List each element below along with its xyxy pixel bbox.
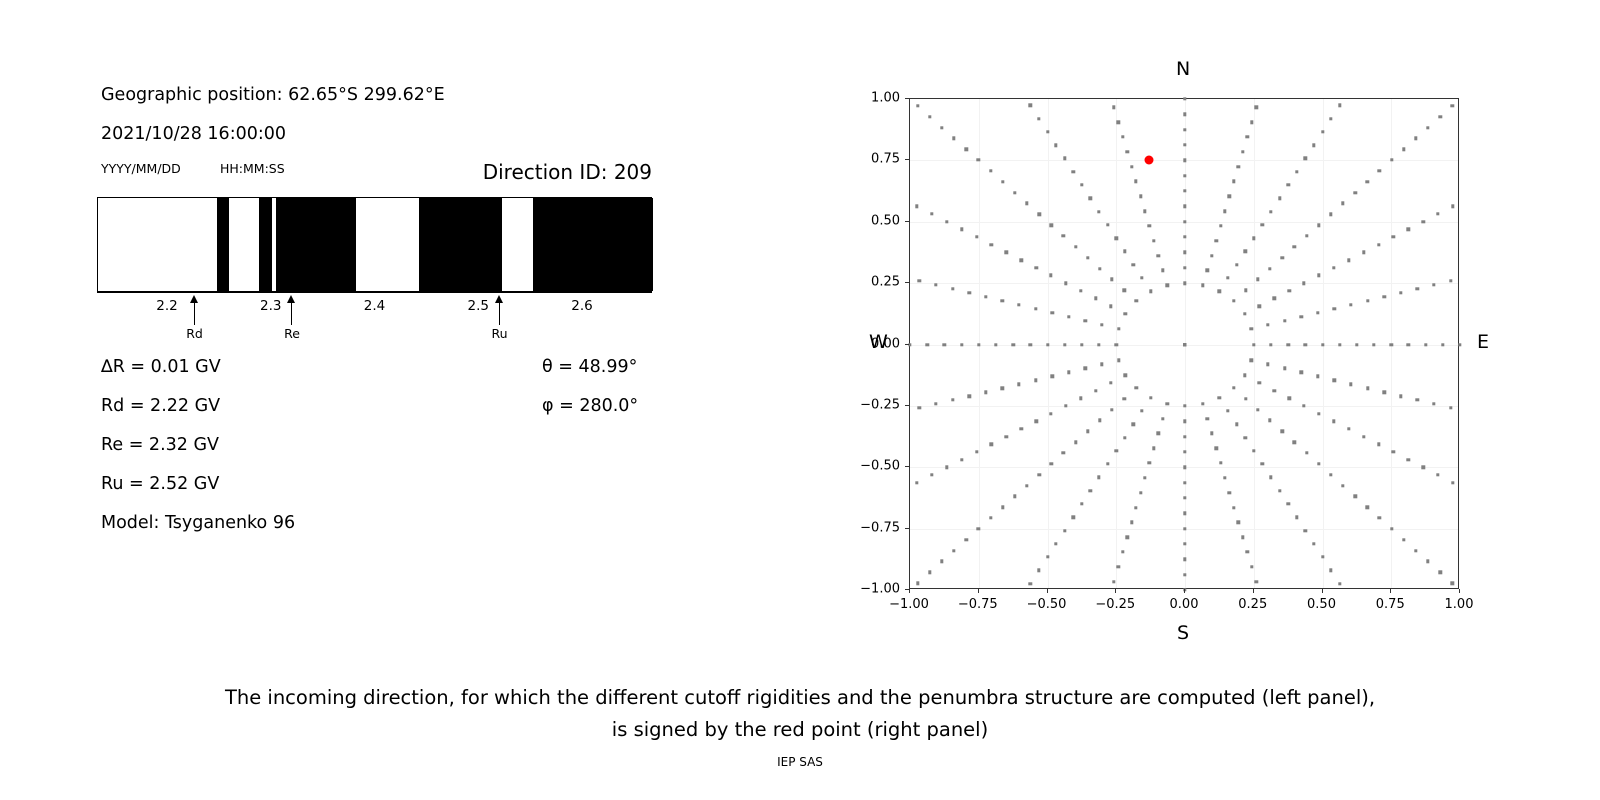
scatter-point: [1219, 461, 1222, 464]
scatter-point: [1295, 170, 1298, 173]
x-axis-tick-mark: [978, 589, 979, 593]
x-axis-tick-label: −0.75: [958, 597, 998, 612]
scatter-point: [1084, 319, 1087, 322]
scatter-point: [1218, 290, 1221, 293]
scatter-point: [1062, 451, 1065, 454]
scatter-point: [1201, 284, 1204, 287]
scatter-point: [1029, 104, 1032, 107]
scatter-point: [1063, 343, 1066, 346]
y-axis-tick-label: −0.50: [860, 459, 900, 474]
scatter-point: [984, 295, 987, 298]
y-axis-tick-label: −1.00: [860, 582, 900, 597]
x-axis-tick-mark: [1253, 589, 1254, 593]
scatter-point: [1183, 542, 1186, 545]
scatter-point: [1399, 394, 1402, 397]
scatter-point: [967, 291, 970, 294]
penumbra-band-forbidden: [217, 198, 229, 291]
scatter-point: [1089, 489, 1092, 492]
scatter-point: [1124, 312, 1127, 315]
scatter-point: [1183, 435, 1186, 438]
scatter-point: [1407, 228, 1410, 231]
scatter-point: [1037, 473, 1040, 476]
x-axis-tick-label: −0.50: [1027, 597, 1067, 612]
scatter-point: [1115, 343, 1118, 346]
scatter-point: [1424, 343, 1427, 346]
scatter-point: [1355, 343, 1358, 346]
scatter-point: [940, 560, 943, 563]
scatter-point: [1067, 315, 1070, 318]
scatter-point: [1094, 297, 1097, 300]
scatter-point: [928, 571, 931, 574]
scatter-point: [1241, 150, 1244, 153]
scatter-point: [1287, 289, 1290, 292]
compass-label-west: W: [869, 331, 888, 353]
scatter-point: [1123, 250, 1126, 253]
scatter-point: [1084, 367, 1087, 370]
scatter-point: [1232, 386, 1235, 389]
scatter-point: [1062, 234, 1065, 237]
scatter-point: [1037, 117, 1040, 120]
scatter-point: [1305, 234, 1308, 237]
scatter-point: [1001, 386, 1004, 389]
scatter-point: [1109, 304, 1112, 307]
scatter-point: [945, 466, 948, 469]
scatter-point: [1079, 289, 1082, 292]
date-format-label: YYYY/MM/DD: [101, 161, 181, 176]
scatter-point: [1123, 289, 1126, 292]
scatter-point: [1266, 323, 1269, 326]
re-value: Re = 2.32 GV: [101, 435, 219, 455]
scatter-point: [965, 148, 968, 151]
scatter-point: [1034, 307, 1037, 310]
scatter-point: [1183, 496, 1186, 499]
scatter-point: [1123, 436, 1126, 439]
scatter-point: [1243, 373, 1246, 376]
scatter-point: [1329, 117, 1332, 120]
scatter-point: [1183, 128, 1186, 131]
scatter-point: [951, 398, 954, 401]
scatter-point: [1349, 303, 1352, 306]
scatter-point: [1243, 312, 1246, 315]
scatter-point: [1183, 113, 1186, 116]
x-axis-tick-label: −0.25: [1095, 597, 1135, 612]
scatter-point: [915, 481, 918, 484]
rigidity-marker-arrow-re: [286, 295, 298, 325]
scatter-point: [1049, 274, 1052, 277]
scatter-point: [1161, 417, 1164, 420]
scatter-point: [989, 169, 992, 172]
scatter-point: [1316, 375, 1319, 378]
scatter-point: [1237, 165, 1240, 168]
phi-value: φ = 280.0°: [542, 396, 638, 416]
scatter-point: [1134, 506, 1137, 509]
scatter-point: [1333, 379, 1336, 382]
scatter-point: [1283, 367, 1286, 370]
scatter-point: [1439, 115, 1442, 118]
scatter-point: [1250, 120, 1253, 123]
scatter-point: [1286, 343, 1289, 346]
scatter-point: [1080, 502, 1083, 505]
scatter-point: [1286, 183, 1289, 186]
scatter-point: [1050, 375, 1053, 378]
scatter-point: [1214, 447, 1217, 450]
scatter-point: [1086, 256, 1089, 259]
scatter-point: [1121, 550, 1124, 553]
scatter-point: [1228, 195, 1231, 198]
scatter-point: [1304, 343, 1307, 346]
scatter-point: [1254, 106, 1257, 109]
scatter-point: [1201, 402, 1204, 405]
rd-value: Rd = 2.22 GV: [101, 396, 220, 416]
penumbra-band-forbidden: [259, 198, 272, 291]
scatter-point: [1281, 256, 1284, 259]
scatter-point: [1183, 159, 1186, 162]
scatter-point: [1366, 386, 1369, 389]
scatter-point: [1094, 389, 1097, 392]
scatter-point: [1117, 327, 1120, 330]
scatter-point: [1140, 276, 1143, 279]
scatter-point: [1278, 197, 1281, 200]
scatter-point: [1166, 402, 1169, 405]
scatter-point: [1353, 191, 1356, 194]
scatter-point: [1273, 389, 1276, 392]
scatter-point: [994, 343, 997, 346]
scatter-point: [1017, 383, 1020, 386]
scatter-point: [1050, 311, 1053, 314]
scatter-point: [1183, 143, 1186, 146]
scatter-point: [1250, 565, 1253, 568]
caption-line-1: The incoming direction, for which the di…: [0, 686, 1600, 709]
scatter-point: [1067, 371, 1070, 374]
scatter-point: [977, 527, 980, 530]
scatter-point: [1115, 449, 1118, 452]
footer-label: IEP SAS: [0, 755, 1600, 769]
scatter-point: [1074, 245, 1077, 248]
scatter-point: [1011, 343, 1014, 346]
rigidity-marker-arrow-rd: [189, 295, 201, 325]
x-axis-tick-label: 1.00: [1445, 597, 1474, 612]
scatter-point: [1020, 427, 1023, 430]
x-axis-tick-label: −1.00: [889, 597, 929, 612]
scatter-point: [1183, 512, 1186, 515]
scatter-point: [1317, 462, 1320, 465]
scatter-point: [1097, 476, 1100, 479]
y-axis-tick-label: 1.00: [871, 91, 900, 106]
scatter-point: [1426, 126, 1429, 129]
scatter-point: [1152, 447, 1155, 450]
scatter-point: [1063, 529, 1066, 532]
y-axis-tick-mark: [905, 282, 909, 283]
scatter-point: [1226, 409, 1229, 412]
scatter-point: [1050, 462, 1053, 465]
scatter-point: [1432, 402, 1435, 405]
scatter-point: [1329, 473, 1332, 476]
scatter-point: [1333, 307, 1336, 310]
scatter-point: [960, 228, 963, 231]
scatter-point: [1305, 451, 1308, 454]
scatter-point: [1001, 506, 1004, 509]
scatter-point: [1436, 473, 1439, 476]
scatter-point: [1148, 224, 1151, 227]
scatter-point: [1161, 269, 1164, 272]
rigidity-tick-label: 2.6: [571, 298, 592, 314]
scatter-point: [1115, 236, 1118, 239]
scatter-point: [1338, 343, 1341, 346]
scatter-point: [1001, 299, 1004, 302]
scatter-point: [1366, 180, 1369, 183]
scatter-point: [1183, 481, 1186, 484]
scatter-point: [1244, 397, 1247, 400]
scatter-point: [1383, 390, 1386, 393]
scatter-point: [1243, 436, 1246, 439]
scatter-point: [1139, 491, 1142, 494]
scatter-point: [1416, 287, 1419, 290]
scatter-point: [925, 343, 928, 346]
scatter-point: [1414, 549, 1417, 552]
scatter-point: [1458, 343, 1461, 346]
theta-value: θ = 48.99°: [542, 357, 637, 377]
x-axis-tick-label: 0.25: [1238, 597, 1267, 612]
scatter-point: [1106, 223, 1109, 226]
scatter-point: [1451, 205, 1454, 208]
scatter-point: [977, 343, 980, 346]
scatter-point: [975, 450, 978, 453]
selected-direction-point[interactable]: [1145, 156, 1154, 165]
scatter-point: [1097, 343, 1100, 346]
scatter-point: [1232, 299, 1235, 302]
scatter-point: [1392, 450, 1395, 453]
scatter-point: [1246, 135, 1249, 138]
scatter-point: [1183, 466, 1186, 469]
scatter-point: [1183, 404, 1186, 407]
scatter-point: [975, 235, 978, 238]
scatter-point: [952, 137, 955, 140]
scatter-point: [1149, 396, 1152, 399]
scatter-point: [1421, 220, 1424, 223]
scatter-point: [1321, 343, 1324, 346]
scatter-point: [1261, 462, 1264, 465]
scatter-point: [1451, 104, 1454, 107]
time-format-label: HH:MM:SS: [220, 161, 285, 176]
scatter-point: [1338, 582, 1341, 585]
scatter-point: [1117, 120, 1120, 123]
scatter-point: [1117, 565, 1120, 568]
scatter-point: [1402, 148, 1405, 151]
scatter-point: [1166, 284, 1169, 287]
scatter-point: [989, 516, 992, 519]
scatter-point: [1005, 435, 1008, 438]
scatter-point: [965, 538, 968, 541]
y-axis-tick-label: −0.25: [860, 397, 900, 412]
scatter-point: [1268, 267, 1271, 270]
scatter-point: [1304, 529, 1307, 532]
scatter-point: [1293, 440, 1296, 443]
scatter-point: [934, 402, 937, 405]
y-axis-tick-mark: [905, 405, 909, 406]
scatter-point: [960, 343, 963, 346]
scatter-point: [1183, 189, 1186, 192]
scatter-point: [1135, 299, 1138, 302]
scatter-point: [1232, 180, 1235, 183]
scatter-point: [1436, 212, 1439, 215]
y-axis-tick-mark: [905, 221, 909, 222]
y-axis-tick-label: 0.50: [871, 213, 900, 228]
scatter-point: [1250, 359, 1253, 362]
scatter-point: [1407, 458, 1410, 461]
y-axis-tick-mark: [905, 98, 909, 99]
scatter-point: [1390, 527, 1393, 530]
scatter-point: [1347, 258, 1350, 261]
scatter-point: [1025, 202, 1028, 205]
scatter-point: [1218, 396, 1221, 399]
scatter-point: [1139, 195, 1142, 198]
scatter-point: [952, 549, 955, 552]
scatter-point: [1383, 295, 1386, 298]
scatter-point: [930, 212, 933, 215]
scatter-point: [1206, 269, 1209, 272]
scatter-point: [1097, 210, 1100, 213]
rigidity-tick-label: 2.2: [156, 298, 177, 314]
scatter-point: [1295, 516, 1298, 519]
scatter-point: [1246, 550, 1249, 553]
y-axis-tick-label: 0.25: [871, 275, 900, 290]
scatter-point: [1089, 197, 1092, 200]
scatter-point: [1125, 150, 1128, 153]
scatter-point: [1252, 449, 1255, 452]
scatter-point: [1072, 170, 1075, 173]
scatter-point: [1183, 573, 1186, 576]
rigidity-marker-label-ru: Ru: [491, 326, 507, 341]
scatter-point: [1366, 299, 1369, 302]
scatter-point: [1362, 251, 1365, 254]
scatter-point: [1034, 420, 1037, 423]
scatter-point: [1439, 571, 1442, 574]
scatter-point: [1183, 235, 1186, 238]
scatter-point: [916, 581, 919, 584]
scatter-point: [928, 115, 931, 118]
x-axis-tick-mark: [1115, 589, 1116, 593]
compass-label-south: S: [1177, 622, 1189, 644]
scatter-point: [1321, 555, 1324, 558]
scatter-point: [934, 283, 937, 286]
x-axis-tick-label: 0.50: [1307, 597, 1336, 612]
penumbra-bar: [97, 197, 652, 292]
scatter-point: [1256, 408, 1259, 411]
scatter-point: [1392, 235, 1395, 238]
scatter-point: [1079, 397, 1082, 400]
scatter-point: [1140, 409, 1143, 412]
x-axis-tick-label: 0.75: [1376, 597, 1405, 612]
scatter-point: [1183, 281, 1186, 284]
scatter-point: [1441, 343, 1444, 346]
scatter-point: [1252, 343, 1255, 346]
scatter-point: [1157, 254, 1160, 257]
scatter-point: [1054, 143, 1057, 146]
scatter-point: [1063, 157, 1066, 160]
scatter-point: [1302, 281, 1305, 284]
scatter-point: [1210, 432, 1213, 435]
compass-label-north: N: [1176, 58, 1190, 80]
scatter-point: [1125, 535, 1128, 538]
scatter-point: [1226, 276, 1229, 279]
scatter-point: [1149, 290, 1152, 293]
scatter-point: [1300, 371, 1303, 374]
scatter-point: [1029, 343, 1032, 346]
scatter-point: [1283, 319, 1286, 322]
scatter-point: [1013, 191, 1016, 194]
x-axis-tick-mark: [1322, 589, 1323, 593]
scatter-point: [1237, 521, 1240, 524]
delta-r-value: ∆R = 0.01 GV: [101, 357, 221, 377]
direction-scatter-plot: [909, 98, 1459, 589]
ru-value: Ru = 2.52 GV: [101, 474, 219, 494]
scatter-point: [1064, 281, 1067, 284]
scatter-point: [1347, 427, 1350, 430]
scatter-point: [943, 343, 946, 346]
scatter-point: [1256, 278, 1259, 281]
scatter-point: [1228, 491, 1231, 494]
scatter-point: [1121, 135, 1124, 138]
scatter-point: [1293, 245, 1296, 248]
scatter-point: [1304, 157, 1307, 160]
scatter-point: [1020, 258, 1023, 261]
scatter-point: [1235, 423, 1238, 426]
scatter-point: [1258, 304, 1261, 307]
scatter-point: [1106, 462, 1109, 465]
scatter-point: [1054, 542, 1057, 545]
scatter-point: [1152, 239, 1155, 242]
scatter-point: [984, 390, 987, 393]
scatter-point: [1130, 521, 1133, 524]
scatter-point: [930, 473, 933, 476]
scatter-point: [1132, 263, 1135, 266]
scatter-point: [960, 458, 963, 461]
scatter-point: [1449, 406, 1452, 409]
compass-label-east: E: [1477, 331, 1489, 353]
scatter-point: [1109, 381, 1112, 384]
scatter-point: [1312, 542, 1315, 545]
scatter-point: [1269, 476, 1272, 479]
scatter-point: [1366, 506, 1369, 509]
y-axis-tick-mark: [905, 466, 909, 467]
y-axis-tick-mark: [905, 159, 909, 160]
scatter-point: [1037, 569, 1040, 572]
scatter-point: [1100, 363, 1103, 366]
scatter-point: [1143, 209, 1146, 212]
scatter-point: [1377, 243, 1380, 246]
scatter-point: [1001, 180, 1004, 183]
scatter-point: [1117, 359, 1120, 362]
scatter-point: [918, 279, 921, 282]
scatter-point: [1098, 419, 1101, 422]
scatter-point: [951, 287, 954, 290]
scatter-point: [1025, 484, 1028, 487]
scatter-point: [1269, 210, 1272, 213]
scatter-point: [1269, 343, 1272, 346]
scatter-point: [1349, 383, 1352, 386]
scatter-point: [1353, 495, 1356, 498]
scatter-point: [1254, 580, 1257, 583]
scatter-point: [1402, 538, 1405, 541]
penumbra-chart: [97, 197, 652, 292]
scatter-point: [1148, 461, 1151, 464]
scatter-point: [1252, 236, 1255, 239]
scatter-point: [1223, 209, 1226, 212]
scatter-point: [1312, 143, 1315, 146]
scatter-point: [1273, 297, 1276, 300]
scatter-point: [1050, 223, 1053, 226]
scatter-point: [1378, 169, 1381, 172]
